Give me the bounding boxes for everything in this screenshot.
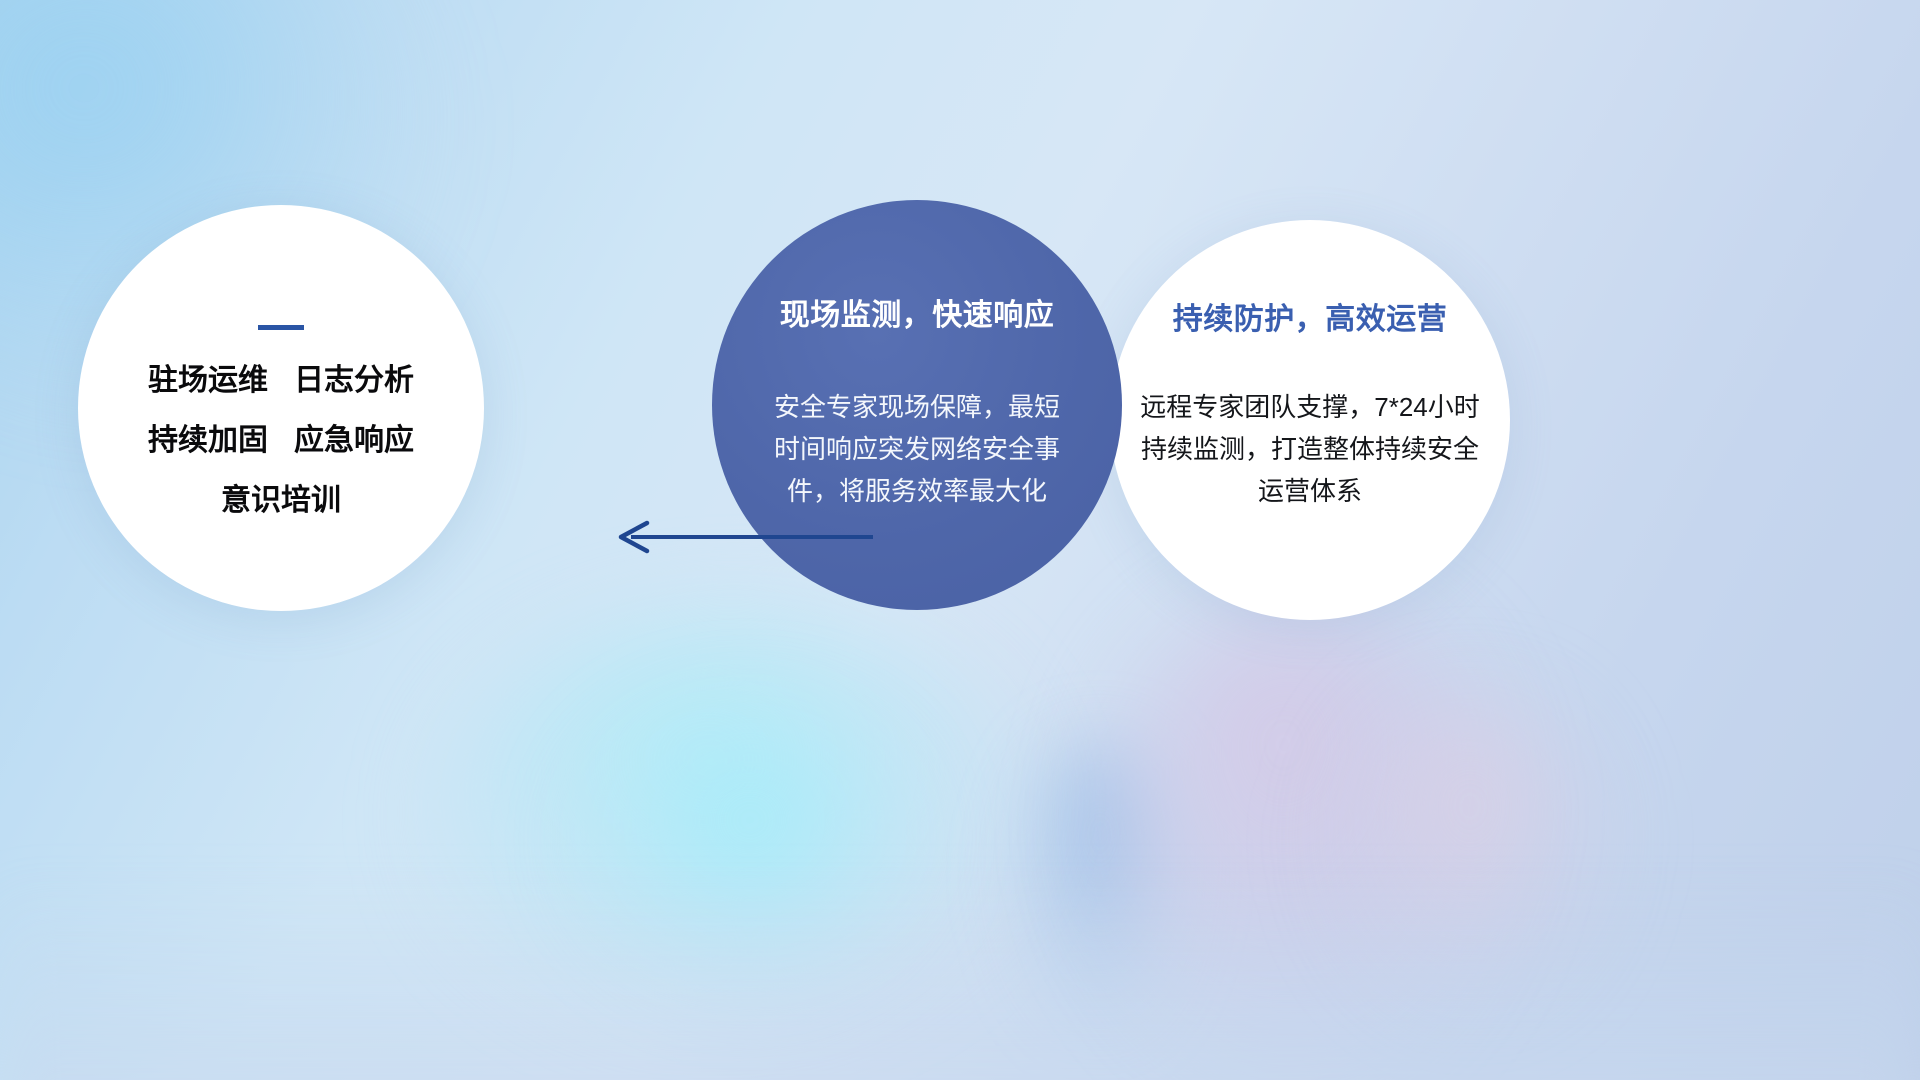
background-glow-cyan-inner: [560, 700, 940, 1000]
onsite-title: 现场监测，快速响应: [780, 290, 1055, 334]
background-glow-cyan: [430, 610, 1050, 1040]
continuous-description: 远程专家团队支撑，7*24小时持续监测，打造整体持续安全运营体系: [1138, 386, 1482, 512]
capabilities-row: 驻场运维 日志分析: [148, 366, 414, 396]
background-glow-lavender-inner: [1320, 690, 1620, 1020]
continuous-operation-circle: 持续防护，高效运营 远程专家团队支撑，7*24小时持续监测，打造整体持续安全运营…: [1110, 220, 1510, 620]
background-glow-bottom: [0, 880, 1920, 1080]
capability-keyword: 驻场运维: [148, 366, 268, 396]
capability-keyword: 持续加固: [148, 426, 268, 456]
arrow-left-icon: [605, 515, 875, 559]
capability-keyword: 应急响应: [294, 426, 414, 456]
capabilities-row: 持续加固 应急响应: [148, 426, 414, 456]
onsite-description: 安全专家现场保障，最短时间响应突发网络安全事件，将服务效率最大化: [771, 386, 1063, 512]
capabilities-row: 意识培训: [148, 486, 414, 516]
capabilities-circle: 驻场运维 日志分析 持续加固 应急响应 意识培训: [78, 205, 484, 611]
background-glow-lavender: [1090, 600, 1520, 1080]
slide-canvas: 驻场运维 日志分析 持续加固 应急响应 意识培训 现场监测，快速响应 安全专家现…: [0, 0, 1920, 1080]
capabilities-keyword-list: 驻场运维 日志分析 持续加固 应急响应 意识培训: [148, 366, 414, 516]
capability-keyword: 意识培训: [221, 486, 341, 516]
background-glow-blue-band: [1010, 740, 1190, 1040]
continuous-title: 持续防护，高效运营: [1173, 294, 1448, 338]
horizontal-dash-divider-icon: [258, 325, 304, 330]
capability-keyword: 日志分析: [294, 366, 414, 396]
